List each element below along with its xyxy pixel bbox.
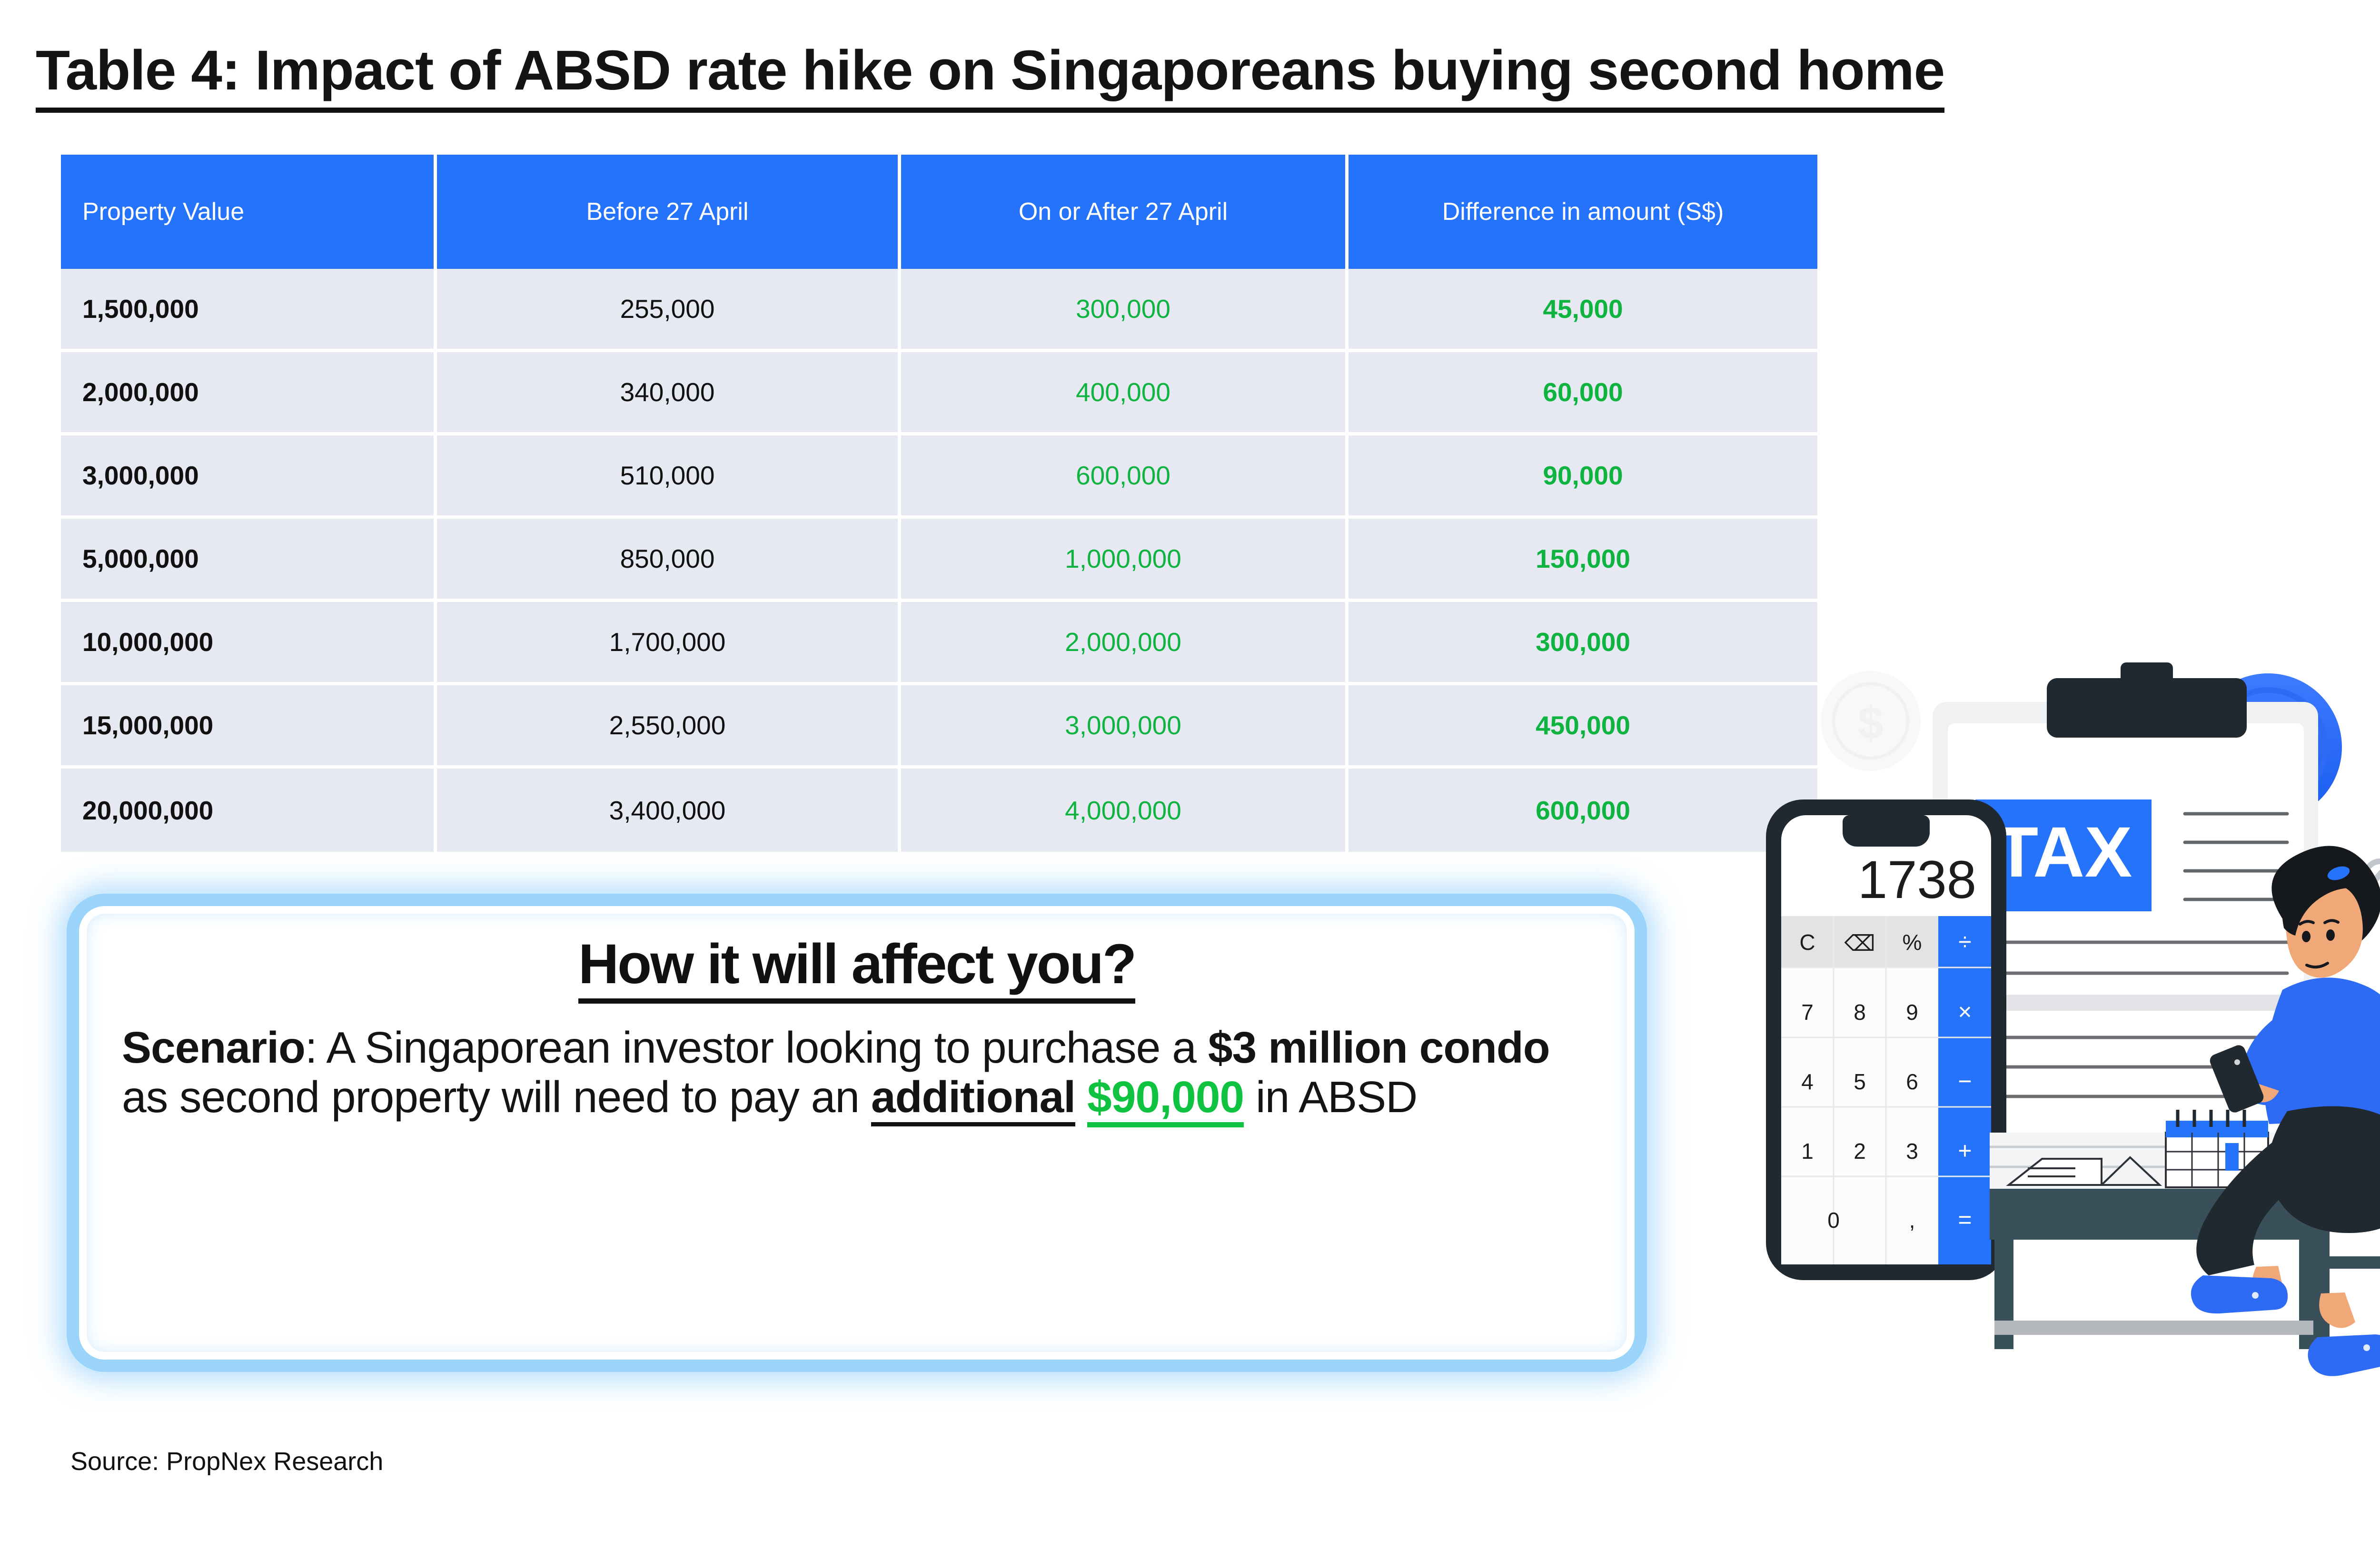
ghost-coin-upper-icon: $ <box>1821 671 1921 771</box>
calc-key-1: 1 <box>1801 1139 1814 1164</box>
calc-key-5: 5 <box>1854 1069 1866 1094</box>
shoe-left-icon <box>2191 1275 2288 1313</box>
column-header-difference-in-amount: Difference in amount (S$) <box>1349 155 1817 269</box>
calc-key-7: 7 <box>1801 1000 1814 1025</box>
cell-diff: 150,000 <box>1349 519 1817 602</box>
cell-value: 5,000,000 <box>61 519 437 602</box>
page-title: Table 4: Impact of ABSD rate hike on Sin… <box>36 38 1944 113</box>
cell-diff: 600,000 <box>1349 769 1817 852</box>
table-row: 3,000,000510,000600,00090,000 <box>61 435 1817 519</box>
table-row: 20,000,0003,400,0004,000,000600,000 <box>61 769 1817 852</box>
scenario-linebreak <box>1075 1072 1087 1122</box>
calc-key-minus: − <box>1958 1068 1972 1095</box>
calc-key-comma: , <box>1909 1208 1915 1233</box>
calc-key-4: 4 <box>1801 1069 1814 1094</box>
callout-body: Scenario: A Singaporean investor looking… <box>122 1023 1592 1122</box>
calc-key-6: 6 <box>1906 1069 1918 1094</box>
title-bar: Table 4: Impact of ABSD rate hike on Sin… <box>36 38 1944 113</box>
table-body: 1,500,000255,000300,00045,0002,000,00034… <box>61 269 1817 852</box>
calc-key-2: 2 <box>1854 1139 1866 1164</box>
cell-diff: 450,000 <box>1349 685 1817 769</box>
absd-impact-table: Property Value Before 27 April On or Aft… <box>61 155 1817 852</box>
tax-badge-label: TAX <box>1995 812 2132 892</box>
callout-heading: How it will affect you? <box>122 932 1592 1004</box>
cell-before: 340,000 <box>437 352 901 435</box>
tax-illustration: $ $ $ TAX <box>1761 657 2380 1475</box>
callout-inner: How it will affect you? Scenario: A Sing… <box>79 906 1635 1360</box>
callout-heading-text: How it will affect you? <box>578 932 1135 1004</box>
cell-value: 20,000,000 <box>61 769 437 852</box>
cell-after: 300,000 <box>901 269 1349 352</box>
scenario-text-3: in ABSD <box>1244 1072 1417 1122</box>
cell-diff: 60,000 <box>1349 352 1817 435</box>
cell-value: 15,000,000 <box>61 685 437 769</box>
column-header-property-value: Property Value <box>61 155 437 269</box>
cell-after: 2,000,000 <box>901 602 1349 685</box>
cell-diff: 90,000 <box>1349 435 1817 519</box>
cell-before: 1,700,000 <box>437 602 901 685</box>
table-row: 2,000,000340,000400,00060,000 <box>61 352 1817 435</box>
phone-notch-icon <box>1843 815 1930 847</box>
source-note: Source: PropNex Research <box>70 1447 383 1476</box>
calc-key-9: 9 <box>1906 1000 1918 1025</box>
cell-before: 255,000 <box>437 269 901 352</box>
scenario-text-1: : A Singaporean investor looking to purc… <box>305 1023 1208 1072</box>
table-row: 5,000,000850,0001,000,000150,000 <box>61 519 1817 602</box>
scenario-bold-amount: $3 million condo <box>1208 1023 1550 1072</box>
column-header-on-or-after-27-april: On or After 27 April <box>901 155 1349 269</box>
scenario-label: Scenario <box>122 1023 305 1072</box>
column-header-before-27-april: Before 27 April <box>437 155 901 269</box>
scenario-additional-emphasis: additional <box>871 1072 1075 1126</box>
cell-after: 400,000 <box>901 352 1349 435</box>
phone-calculator: 1738 C ⌫ % 7 8 9 4 5 6 1 2 3 0 <box>1766 799 2006 1280</box>
calc-key-plus: + <box>1958 1137 1972 1164</box>
shoe-right-icon <box>2308 1334 2380 1376</box>
cell-before: 2,550,000 <box>437 685 901 769</box>
how-it-affects-you-callout: How it will affect you? Scenario: A Sing… <box>67 894 1647 1372</box>
table-header-row: Property Value Before 27 April On or Aft… <box>61 155 1817 269</box>
cell-before: 510,000 <box>437 435 901 519</box>
cell-diff: 45,000 <box>1349 269 1817 352</box>
cell-diff: 300,000 <box>1349 602 1817 685</box>
cell-after: 1,000,000 <box>901 519 1349 602</box>
cell-after: 3,000,000 <box>901 685 1349 769</box>
calc-key-0: 0 <box>1827 1208 1840 1233</box>
table-row: 15,000,0002,550,0003,000,000450,000 <box>61 685 1817 769</box>
cell-after: 600,000 <box>901 435 1349 519</box>
table-row: 1,500,000255,000300,00045,000 <box>61 269 1817 352</box>
calc-key-backspace-icon: ⌫ <box>1844 931 1875 956</box>
scenario-green-amount: $90,000 <box>1087 1072 1244 1127</box>
cell-value: 10,000,000 <box>61 602 437 685</box>
calc-key-percent: % <box>1903 930 1922 955</box>
cell-before: 850,000 <box>437 519 901 602</box>
calc-key-clear: C <box>1799 930 1815 955</box>
calculator-display: 1738 <box>1858 850 1976 909</box>
calc-key-divide: ÷ <box>1958 928 1971 955</box>
cell-value: 1,500,000 <box>61 269 437 352</box>
cell-after: 4,000,000 <box>901 769 1349 852</box>
calc-key-multiply: × <box>1958 998 1972 1025</box>
calc-key-8: 8 <box>1854 1000 1866 1025</box>
cell-value: 3,000,000 <box>61 435 437 519</box>
scenario-text-2: as second property will need to pay an <box>122 1072 871 1122</box>
calc-key-3: 3 <box>1906 1139 1918 1164</box>
svg-text:$: $ <box>1858 698 1883 749</box>
table-row: 10,000,0001,700,0002,000,000300,000 <box>61 602 1817 685</box>
cell-before: 3,400,000 <box>437 769 901 852</box>
cell-value: 2,000,000 <box>61 352 437 435</box>
calc-key-equals: = <box>1958 1206 1972 1233</box>
